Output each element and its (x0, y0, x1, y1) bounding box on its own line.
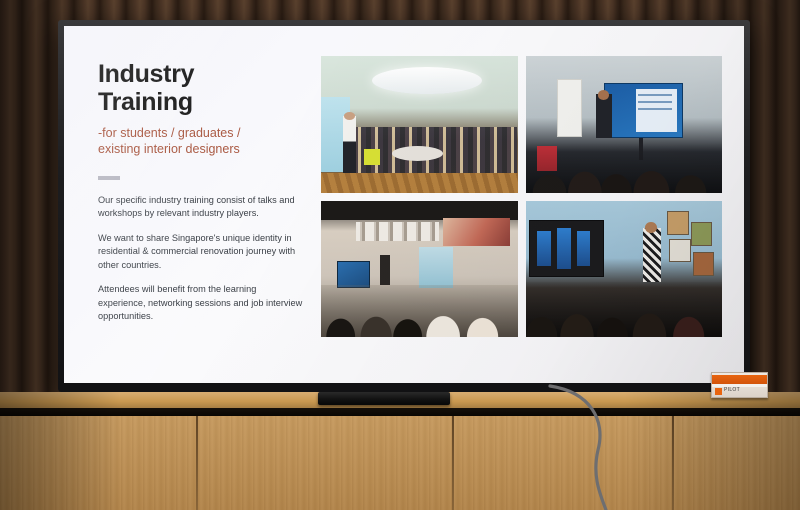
slide-subtitle-line-1: -for students / graduates / (98, 125, 303, 141)
shelf-cube (669, 239, 691, 262)
power-cable (520, 380, 680, 510)
shelf-cube (691, 222, 713, 245)
product-box: PILOT (711, 372, 768, 398)
wall-poster (443, 218, 510, 245)
glass-door (419, 247, 452, 288)
box-label: PILOT (724, 387, 740, 393)
wood-floor (321, 173, 518, 192)
round-table (392, 146, 443, 161)
tv-screen: Industry Training -for students / gradua… (64, 26, 744, 383)
photo-top-right (526, 56, 723, 193)
shelf-cube (667, 211, 689, 234)
slide-photo-grid (321, 54, 722, 363)
slide-title-line-1: Industry (98, 60, 303, 88)
box-white-band (712, 384, 768, 387)
slide-paragraph: Attendees will benefit from the learning… (98, 283, 303, 323)
box-orange-band (712, 375, 768, 384)
wall-monitor (337, 261, 370, 288)
slide-title: Industry Training (98, 60, 303, 116)
shelf-cube (693, 252, 715, 275)
standing-figure (380, 255, 390, 285)
television: Industry Training -for students / gradua… (58, 20, 750, 392)
ceiling-beam (321, 201, 518, 220)
slide-paragraph: We want to share Singapore's unique iden… (98, 232, 303, 272)
ceiling-light (372, 67, 482, 94)
box-logo-mark (715, 388, 722, 395)
presentation-slide: Industry Training -for students / gradua… (64, 26, 744, 383)
audience (526, 282, 723, 337)
photo-bottom-left (321, 201, 518, 338)
yellow-chair (364, 149, 380, 165)
presenter-figure (643, 228, 661, 283)
slide-paragraph: Our specific industry training consist o… (98, 194, 303, 221)
credenza-shading (0, 392, 800, 510)
soundbar (318, 392, 450, 405)
slide-text-column: Industry Training -for students / gradua… (98, 54, 303, 363)
audience (526, 143, 723, 192)
slide-subtitle: -for students / graduates / existing int… (98, 125, 303, 157)
presenter-head (598, 90, 609, 100)
presenter-figure (596, 94, 612, 138)
speaker-figure (343, 116, 357, 173)
banner-stand (557, 79, 583, 136)
slide-divider-rule (98, 176, 120, 180)
slide-subtitle-line-2: existing interior designers (98, 141, 303, 157)
slide-title-line-2: Training (98, 88, 303, 116)
slide-body-text: Our specific industry training consist o… (98, 194, 303, 323)
room-scene: Industry Training -for students / gradua… (0, 0, 800, 510)
photo-bottom-right (526, 201, 723, 338)
wall-frames (356, 222, 439, 241)
photo-top-left (321, 56, 518, 193)
audience (321, 285, 518, 337)
